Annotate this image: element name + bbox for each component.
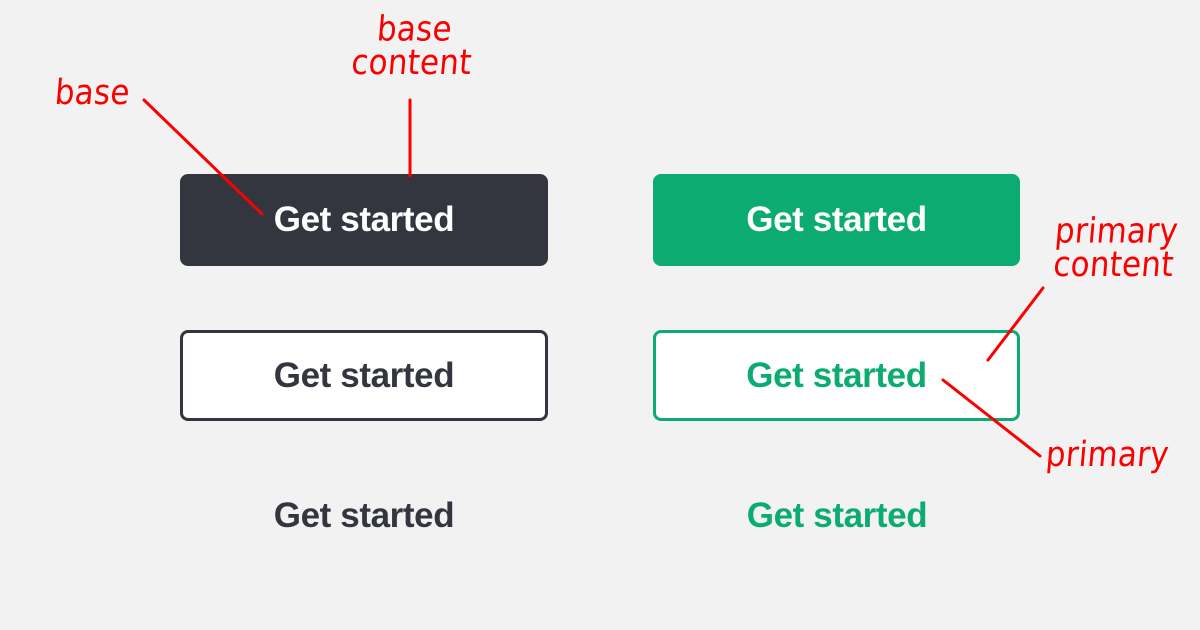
annotation-label-base-content: basecontent: [335, 12, 491, 80]
text-primary-button-label: Get started: [747, 496, 927, 536]
annotated-button-specimen-canvas: Get started Get started Get started Get …: [0, 0, 1200, 630]
annotation-label-primary: primary: [1045, 438, 1171, 472]
solid-base-button[interactable]: Get started: [180, 174, 548, 266]
outline-base-button-label: Get started: [274, 356, 454, 396]
solid-primary-button-label: Get started: [746, 200, 926, 240]
outline-base-button[interactable]: Get started: [180, 330, 548, 421]
annotation-label-primary-content: primarycontent: [1037, 214, 1193, 282]
annotation-label-primary-content-line2: content: [1052, 245, 1176, 285]
text-primary-button[interactable]: Get started: [653, 492, 1021, 540]
solid-base-button-label: Get started: [274, 200, 454, 240]
outline-primary-button-label: Get started: [746, 356, 926, 396]
annotation-label-base: base: [54, 76, 132, 110]
outline-primary-button[interactable]: Get started: [653, 330, 1020, 421]
solid-primary-button[interactable]: Get started: [653, 174, 1020, 266]
text-base-button[interactable]: Get started: [180, 492, 548, 540]
text-base-button-label: Get started: [274, 496, 454, 536]
annotation-label-base-content-line2: content: [350, 43, 474, 83]
